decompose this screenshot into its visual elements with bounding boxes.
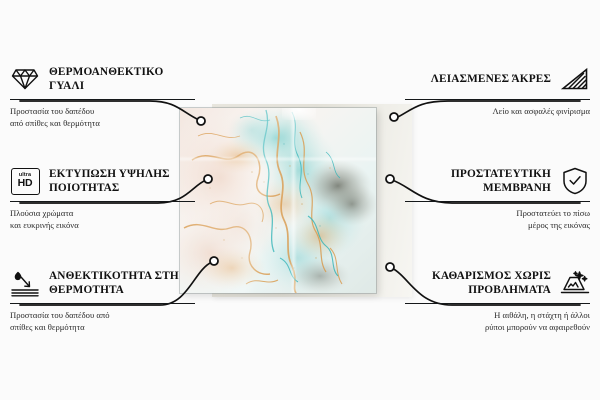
feature-left-1-title: ΘΕΡΜΟΑΝΘΕΚΤΙΚΟ ΓΥΑΛΙ <box>49 65 195 94</box>
feature-right-1-description: Λείο και ασφαλές φινίρισμα <box>405 105 590 117</box>
artwork-svg <box>180 108 376 293</box>
diamond-icon <box>10 64 40 94</box>
feature-right-2-title: ΠΡΟΣΤΑΤΕΥΤΙΚΗ ΜΕΜΒΡΑΝΗ <box>405 167 551 196</box>
feature-right-3-divider <box>405 303 590 304</box>
feature-right-3-description: Η αιθάλη, η στάχτη ή άλλοι ρύποι μπορούν… <box>405 309 590 334</box>
polished-edges-icon <box>560 64 590 94</box>
heat-resistance-icon <box>10 268 40 298</box>
feature-left-2-head: ultra HD ΕΚΤΥΠΩΣΗ ΥΨΗΛΗΣ ΠΟΙΟΤΗΤΑΣ <box>10 164 195 198</box>
feature-right-1-divider <box>405 99 590 100</box>
feature-right-1-title: ΛΕΙΑΣΜΕΝΕΣ ΆΚΡΕΣ <box>405 72 551 86</box>
feature-right-3: ΚΑΘΑΡΙΣΜΟΣ ΧΩΡΙΣ ΠΡΟΒΛΗΜΑΤΑ Η αιθάλη, η … <box>405 266 590 334</box>
feature-right-2-divider <box>405 201 590 202</box>
shield-check-icon <box>560 166 590 196</box>
feature-left-1-description: Προστασία του δαπέδου από σπίθες και θερ… <box>10 105 195 130</box>
feature-left-2-divider <box>10 201 195 202</box>
feature-left-2: ultra HD ΕΚΤΥΠΩΣΗ ΥΨΗΛΗΣ ΠΟΙΟΤΗΤΑΣ Πλούσ… <box>10 164 195 232</box>
feature-left-2-description: Πλούσια χρώματα και ευκρινής εικόνα <box>10 207 195 232</box>
ultra-hd-badge-box: ultra HD <box>11 168 40 195</box>
feature-right-3-head: ΚΑΘΑΡΙΣΜΟΣ ΧΩΡΙΣ ΠΡΟΒΛΗΜΑΤΑ <box>405 266 590 300</box>
feature-left-3: ΑΝΘΕΚΤΙΚΟΤΗΤΑ ΣΤΗ ΘΕΡΜΟΤΗΤΑ Προστασία το… <box>10 266 195 334</box>
feature-right-1: ΛΕΙΑΣΜΕΝΕΣ ΆΚΡΕΣ Λείο και ασφαλές φινίρι… <box>405 62 590 117</box>
feature-left-1-divider <box>10 99 195 100</box>
ultra-hd-badge-icon: ultra HD <box>10 166 40 196</box>
feature-right-2: ΠΡΟΣΤΑΤΕΥΤΙΚΗ ΜΕΜΒΡΑΝΗ Προστατεύει το πί… <box>405 164 590 232</box>
feature-right-1-head: ΛΕΙΑΣΜΕΝΕΣ ΆΚΡΕΣ <box>405 62 590 96</box>
ultra-hd-badge-bottom-text: HD <box>18 178 33 189</box>
feature-right-3-title: ΚΑΘΑΡΙΣΜΟΣ ΧΩΡΙΣ ΠΡΟΒΛΗΜΑΤΑ <box>405 269 551 298</box>
feature-left-3-description: Προστασία του δαπέδου από σπίθες και θερ… <box>10 309 195 334</box>
product-glass-panel <box>180 108 376 293</box>
feature-left-3-head: ΑΝΘΕΚΤΙΚΟΤΗΤΑ ΣΤΗ ΘΕΡΜΟΤΗΤΑ <box>10 266 195 300</box>
feature-left-2-title: ΕΚΤΥΠΩΣΗ ΥΨΗΛΗΣ ΠΟΙΟΤΗΤΑΣ <box>49 167 195 196</box>
easy-clean-sparkle-icon <box>560 268 590 298</box>
feature-left-3-title: ΑΝΘΕΚΤΙΚΟΤΗΤΑ ΣΤΗ ΘΕΡΜΟΤΗΤΑ <box>49 269 195 298</box>
feature-right-2-description: Προστατεύει το πίσω μέρος της εικόνας <box>405 207 590 232</box>
feature-left-1-head: ΘΕΡΜΟΑΝΘΕΚΤΙΚΟ ΓΥΑΛΙ <box>10 62 195 96</box>
feature-left-1: ΘΕΡΜΟΑΝΘΕΚΤΙΚΟ ΓΥΑΛΙ Προστασία του δαπέδ… <box>10 62 195 130</box>
product-image-group <box>180 108 400 293</box>
abstract-marble-artwork <box>180 108 376 293</box>
infographic-canvas: ΘΕΡΜΟΑΝΘΕΚΤΙΚΟ ΓΥΑΛΙ Προστασία του δαπέδ… <box>0 0 600 400</box>
feature-right-2-head: ΠΡΟΣΤΑΤΕΥΤΙΚΗ ΜΕΜΒΡΑΝΗ <box>405 164 590 198</box>
feature-left-3-divider <box>10 303 195 304</box>
